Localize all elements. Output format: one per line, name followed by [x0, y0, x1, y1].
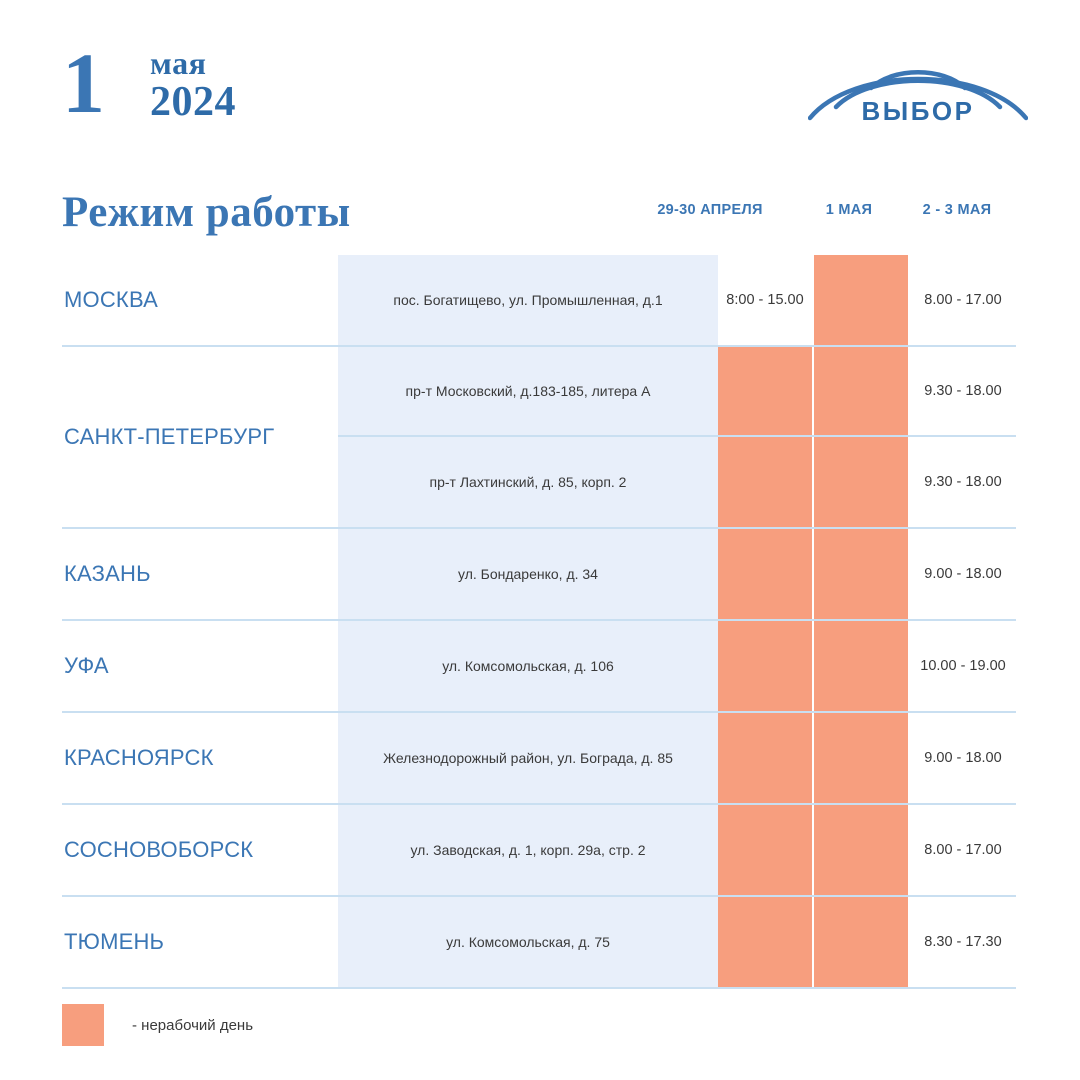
- cell-29-30-april: 8:00 - 15.00: [718, 255, 814, 345]
- column-headers: 29-30 АПРЕЛЯ 1 МАЯ 2 - 3 МАЯ: [620, 202, 1016, 218]
- table-row: ул. Комсомольская, д. 10610.00 - 19.00: [338, 621, 1016, 711]
- cell-29-30-april: [718, 897, 814, 987]
- branch-rows: пос. Богатищево, ул. Промышленная, д.18:…: [338, 255, 1016, 345]
- cell-2-3-may: 8.00 - 17.00: [910, 805, 1016, 895]
- cell-29-30-april: [718, 529, 814, 619]
- cell-2-3-may: 10.00 - 19.00: [910, 621, 1016, 711]
- city-name: САНКТ-ПЕТЕРБУРГ: [64, 424, 274, 450]
- cell-1-may: [814, 529, 910, 619]
- city-cell: МОСКВА: [62, 255, 338, 345]
- branch-rows: ул. Заводская, д. 1, корп. 29а, стр. 28.…: [338, 805, 1016, 895]
- city-name: КАЗАНЬ: [64, 561, 151, 587]
- cell-29-30-april: [718, 805, 814, 895]
- table-row: ул. Заводская, д. 1, корп. 29а, стр. 28.…: [338, 805, 1016, 895]
- cell-2-3-may: 8.00 - 17.00: [910, 255, 1016, 345]
- city-group: СОСНОВОБОРСКул. Заводская, д. 1, корп. 2…: [62, 805, 1016, 897]
- cell-1-may: [814, 805, 910, 895]
- city-group: КРАСНОЯРСКЖелезнодорожный район, ул. Бог…: [62, 713, 1016, 805]
- city-group: УФАул. Комсомольская, д. 10610.00 - 19.0…: [62, 621, 1016, 713]
- cell-29-30-april: [718, 437, 814, 527]
- cell-2-3-may: 9.30 - 18.00: [910, 437, 1016, 527]
- table-row: Железнодорожный район, ул. Бограда, д. 8…: [338, 713, 1016, 803]
- branch-address: пр-т Лахтинский, д. 85, корп. 2: [338, 437, 718, 527]
- arcs-logo-icon: ВЫБОР: [808, 50, 1028, 136]
- legend-swatch-off-day: [62, 1004, 104, 1046]
- table-row: пр-т Лахтинский, д. 85, корп. 29.30 - 18…: [338, 437, 1016, 527]
- cell-1-may: [814, 437, 910, 527]
- table-row: пр-т Московский, д.183-185, литера А9.30…: [338, 347, 1016, 437]
- schedule-table: МОСКВАпос. Богатищево, ул. Промышленная,…: [62, 255, 1016, 989]
- cell-2-3-may: 9.30 - 18.00: [910, 347, 1016, 435]
- legend: - нерабочий день: [62, 1004, 253, 1046]
- date-day: 1: [62, 40, 104, 126]
- date-block: 1 мая 2024: [62, 40, 236, 126]
- branch-rows: ул. Комсомольская, д. 758.30 - 17.30: [338, 897, 1016, 987]
- table-row: ул. Бондаренко, д. 349.00 - 18.00: [338, 529, 1016, 619]
- cell-2-3-may: 8.30 - 17.30: [910, 897, 1016, 987]
- city-name: МОСКВА: [64, 287, 158, 313]
- cell-1-may: [814, 897, 910, 987]
- branch-address: Железнодорожный район, ул. Бограда, д. 8…: [338, 713, 718, 803]
- cell-29-30-april: [718, 713, 814, 803]
- branch-address: ул. Заводская, д. 1, корп. 29а, стр. 2: [338, 805, 718, 895]
- cell-1-may: [814, 621, 910, 711]
- date-year: 2024: [150, 80, 236, 125]
- city-cell: КАЗАНЬ: [62, 529, 338, 619]
- city-group: ТЮМЕНЬул. Комсомольская, д. 758.30 - 17.…: [62, 897, 1016, 989]
- branch-rows: ул. Комсомольская, д. 10610.00 - 19.00: [338, 621, 1016, 711]
- date-month: мая: [150, 46, 236, 80]
- city-group: САНКТ-ПЕТЕРБУРГпр-т Московский, д.183-18…: [62, 347, 1016, 529]
- page-header: 1 мая 2024 ВЫБОР: [0, 0, 1080, 160]
- branch-address: ул. Комсомольская, д. 106: [338, 621, 718, 711]
- branch-address: пр-т Московский, д.183-185, литера А: [338, 347, 718, 435]
- page-title: Режим работы: [62, 188, 351, 238]
- column-header-2-3-may: 2 - 3 МАЯ: [898, 202, 1016, 218]
- branch-rows: пр-т Московский, д.183-185, литера А9.30…: [338, 347, 1016, 527]
- city-name: УФА: [64, 653, 109, 679]
- legend-label: - нерабочий день: [132, 1017, 253, 1034]
- cell-2-3-may: 9.00 - 18.00: [910, 713, 1016, 803]
- date-month-year: мая 2024: [150, 46, 236, 125]
- city-cell: САНКТ-ПЕТЕРБУРГ: [62, 347, 338, 527]
- city-name: СОСНОВОБОРСК: [64, 837, 253, 863]
- cell-2-3-may: 9.00 - 18.00: [910, 529, 1016, 619]
- city-cell: СОСНОВОБОРСК: [62, 805, 338, 895]
- table-row: пос. Богатищево, ул. Промышленная, д.18:…: [338, 255, 1016, 345]
- table-row: ул. Комсомольская, д. 758.30 - 17.30: [338, 897, 1016, 987]
- cell-1-may: [814, 255, 910, 345]
- column-header-29-30-april: 29-30 АПРЕЛЯ: [620, 202, 800, 218]
- branch-address: пос. Богатищево, ул. Промышленная, д.1: [338, 255, 718, 345]
- city-name: КРАСНОЯРСК: [64, 745, 214, 771]
- title-row: Режим работы 29-30 АПРЕЛЯ 1 МАЯ 2 - 3 МА…: [0, 188, 1080, 246]
- city-group: МОСКВАпос. Богатищево, ул. Промышленная,…: [62, 255, 1016, 347]
- city-cell: ТЮМЕНЬ: [62, 897, 338, 987]
- branch-rows: Железнодорожный район, ул. Бограда, д. 8…: [338, 713, 1016, 803]
- column-header-1-may: 1 МАЯ: [800, 202, 898, 218]
- branch-address: ул. Бондаренко, д. 34: [338, 529, 718, 619]
- city-name: ТЮМЕНЬ: [64, 929, 164, 955]
- logo-wordmark: ВЫБОР: [862, 96, 975, 126]
- city-cell: КРАСНОЯРСК: [62, 713, 338, 803]
- city-group: КАЗАНЬул. Бондаренко, д. 349.00 - 18.00: [62, 529, 1016, 621]
- cell-29-30-april: [718, 621, 814, 711]
- cell-29-30-april: [718, 347, 814, 435]
- company-logo: ВЫБОР: [808, 50, 1028, 136]
- cell-1-may: [814, 347, 910, 435]
- branch-address: ул. Комсомольская, д. 75: [338, 897, 718, 987]
- cell-1-may: [814, 713, 910, 803]
- branch-rows: ул. Бондаренко, д. 349.00 - 18.00: [338, 529, 1016, 619]
- city-cell: УФА: [62, 621, 338, 711]
